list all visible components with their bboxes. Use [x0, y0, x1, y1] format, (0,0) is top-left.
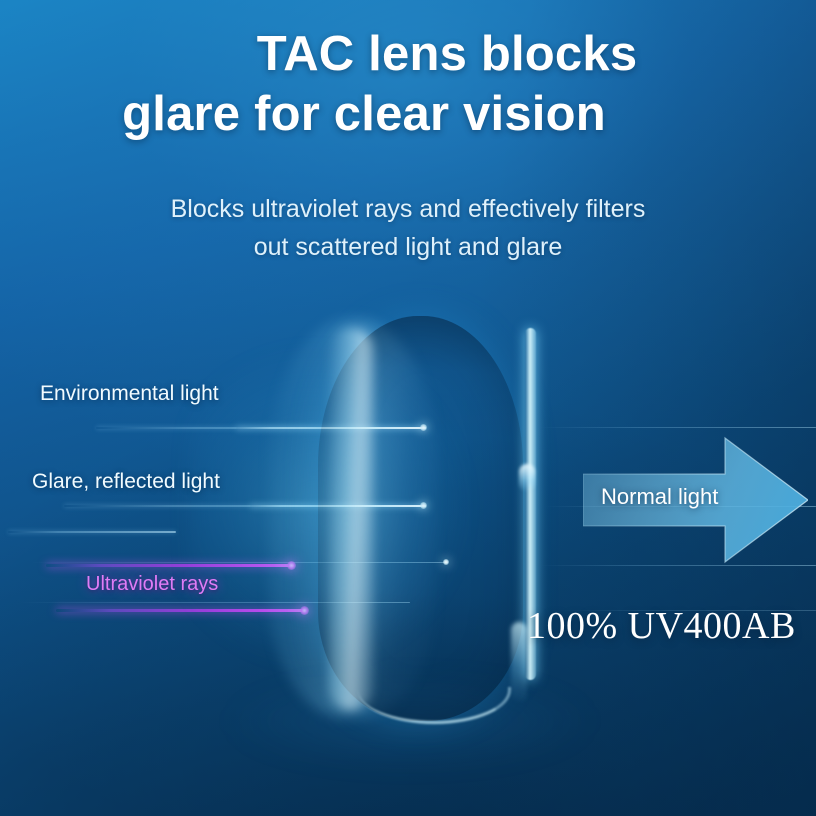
- lens-body: [318, 316, 523, 721]
- uv-rating-badge: 100% UV400AB: [527, 604, 796, 648]
- label-ultraviolet-rays: Ultraviolet rays: [86, 573, 218, 596]
- label-environmental-light: Environmental light: [40, 382, 219, 406]
- lens-rim-notch-highlight: [519, 464, 535, 492]
- headline-line-1: TAC lens blocks: [0, 24, 816, 84]
- lens-bottom-right-bevel: [511, 622, 527, 702]
- tac-lens-graphic: [318, 316, 533, 724]
- label-glare-reflected-light: Glare, reflected light: [32, 470, 220, 494]
- subheadline-block: Blocks ultraviolet rays and effectively …: [0, 190, 816, 266]
- subheadline-line-1: Blocks ultraviolet rays and effectively …: [0, 190, 816, 228]
- infographic-canvas: TAC lens blocks glare for clear vision B…: [0, 0, 816, 816]
- lens-gloss-highlight: [328, 328, 374, 710]
- headline-line-2: glare for clear vision: [0, 84, 816, 144]
- label-normal-light: Normal light: [601, 484, 718, 510]
- headline-block: TAC lens blocks glare for clear vision: [0, 24, 816, 144]
- subheadline-line-2: out scattered light and glare: [0, 228, 816, 266]
